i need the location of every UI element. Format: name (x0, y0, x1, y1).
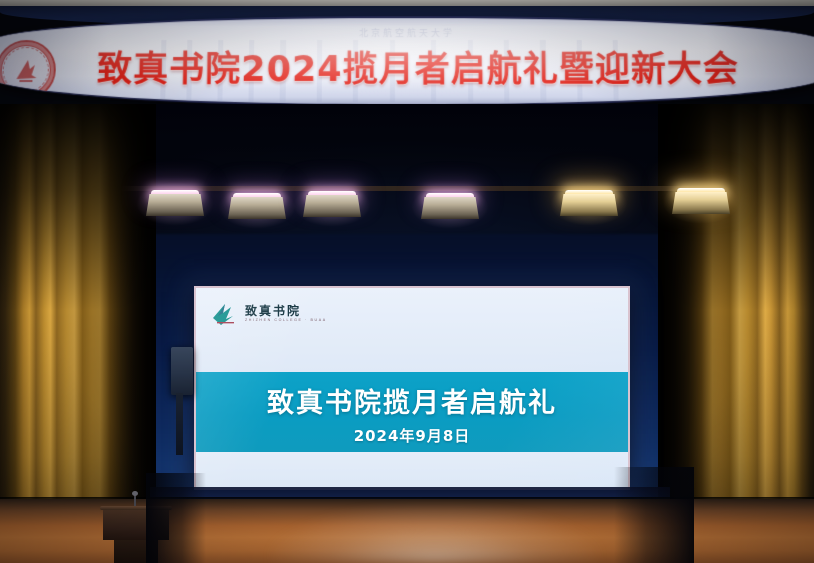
stage-light-3 (303, 191, 361, 217)
stage-event-photo: 北京航空航天大学 致真书院2024揽月者启航礼暨迎新大会 (0, 0, 814, 563)
stage-light-2 (228, 193, 286, 219)
college-logo-en: ZHIZHEN COLLEGE · BUAA (245, 319, 327, 323)
stage-speaker (171, 347, 193, 395)
projection-screen: 致真书院 ZHIZHEN COLLEGE · BUAA 致真书院揽月者启航礼 2… (194, 286, 630, 490)
stage-light-4-hood (421, 197, 479, 219)
lighting-truss (120, 186, 720, 191)
college-logo: 致真书院 ZHIZHEN COLLEGE · BUAA (212, 302, 327, 326)
stage-light-2-hood (228, 197, 286, 219)
slide-title: 致真书院揽月者启航礼 (196, 381, 628, 420)
stage-light-5-hood (560, 194, 618, 216)
projection-screen-surface: 致真书院 ZHIZHEN COLLEGE · BUAA 致真书院揽月者启航礼 2… (196, 288, 628, 488)
stage-masking-right (614, 467, 694, 563)
stage-light-3-hood (303, 195, 361, 217)
stage-speaker-stand (176, 393, 183, 455)
banner-surface: 北京航空航天大学 致真书院2024揽月者启航礼暨迎新大会 (0, 16, 814, 106)
event-banner: 北京航空航天大学 致真书院2024揽月者启航礼暨迎新大会 (0, 16, 814, 108)
stage-light-4 (421, 193, 479, 219)
stage-light-6 (672, 188, 730, 214)
banner-watermark-text: 北京航空航天大学 (0, 26, 814, 39)
stage-masking-left (146, 473, 206, 563)
college-logo-text: 致真书院 ZHIZHEN COLLEGE · BUAA (245, 305, 327, 323)
stage-light-1-hood (146, 194, 204, 216)
stage-curtain-left (0, 104, 156, 534)
slide-date: 2024年9月8日 (196, 425, 628, 446)
slide-bottom-panel (196, 452, 628, 488)
slide-top-panel (196, 288, 628, 372)
seal-emblem-icon (10, 56, 41, 86)
stage-light-5 (560, 190, 618, 216)
stage-light-1 (146, 190, 204, 216)
floor-light-glare (270, 505, 600, 563)
banner-headline: 致真书院2024揽月者启航礼暨迎新大会 (0, 41, 814, 92)
college-logo-cn: 致真书院 (245, 305, 327, 317)
college-logo-mark-icon (212, 302, 238, 326)
stage-light-6-hood (672, 192, 730, 214)
